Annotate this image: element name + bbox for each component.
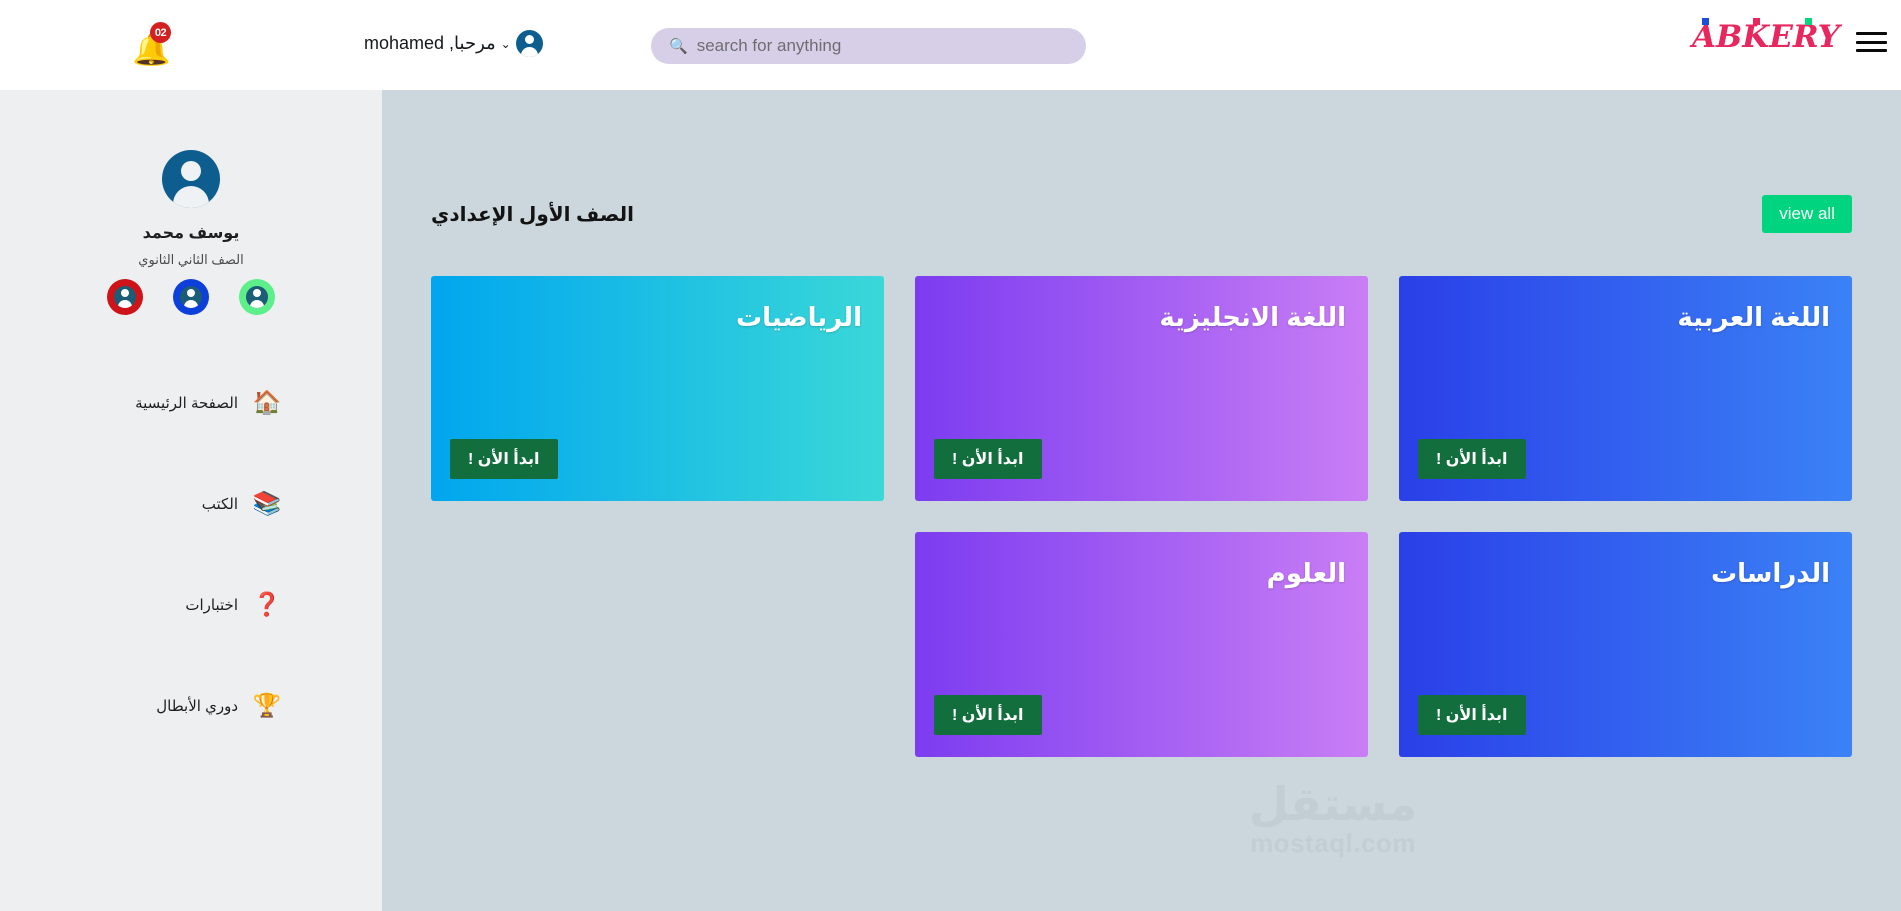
account-switcher — [0, 279, 382, 315]
profile-avatar — [162, 150, 220, 208]
main-content: view all الصف الأول الإعدادي اللغة العرب… — [382, 90, 1901, 911]
subject-card-english[interactable]: اللغة الانجليزية ابدأ الأن ! — [915, 276, 1368, 501]
watermark-latin: mostaql.com — [1218, 828, 1448, 859]
subject-card-studies[interactable]: الدراسات ابدأ الأن ! — [1399, 532, 1852, 757]
books-icon: 📚 — [252, 492, 282, 515]
account-avatar-icon — [180, 286, 202, 308]
brand-logo-text: ABKERY — [1692, 19, 1840, 55]
user-avatar-icon — [516, 30, 543, 57]
notification-badge: 02 — [150, 22, 171, 43]
sidebar-nav: 🏠 الصفحة الرئيسية 📚 الكتب ❓ اختبارات 🏆 د… — [0, 352, 382, 756]
page-body: يوسف محمد الصف الثاني الثانوي 🏠 الصفحة ا… — [0, 90, 1901, 911]
trophy-icon: 🏆 — [252, 694, 282, 717]
subject-card-title: العلوم — [1267, 558, 1346, 589]
page-title: الصف الأول الإعدادي — [431, 202, 634, 227]
user-menu[interactable]: مرحبا, mohamed ⌄ — [364, 30, 543, 57]
subject-card-title: الرياضيات — [736, 302, 862, 333]
logo-dot-blue-icon — [1702, 18, 1709, 25]
watermark-arabic: مستقل — [1218, 780, 1448, 828]
subject-card-title: اللغة الانجليزية — [1159, 302, 1346, 333]
brand-logo[interactable]: ABKERY — [1692, 22, 1840, 53]
hamburger-line-2 — [1856, 41, 1887, 44]
logo-dot-green-icon — [1805, 18, 1812, 25]
account-circle-blue[interactable] — [173, 279, 209, 315]
view-all-button[interactable]: view all — [1762, 195, 1852, 233]
start-now-button[interactable]: ابدأ الأن ! — [1418, 695, 1526, 735]
start-now-button[interactable]: ابدأ الأن ! — [1418, 439, 1526, 479]
sidebar-item-exams[interactable]: ❓ اختبارات — [0, 554, 382, 655]
search-bar[interactable]: 🔍 search for anything — [651, 28, 1086, 64]
sidebar-item-label: الصفحة الرئيسية — [135, 394, 238, 412]
search-icon: 🔍 — [669, 39, 688, 54]
sidebar-item-label: اختبارات — [185, 596, 238, 614]
hamburger-line-1 — [1856, 32, 1887, 35]
account-circle-red[interactable] — [107, 279, 143, 315]
sidebar-item-books[interactable]: 📚 الكتب — [0, 453, 382, 554]
chevron-down-icon: ⌄ — [501, 38, 511, 50]
start-now-button[interactable]: ابدأ الأن ! — [934, 695, 1042, 735]
subject-card-title: الدراسات — [1711, 558, 1830, 589]
section-header: view all الصف الأول الإعدادي — [431, 194, 1852, 234]
subject-card-arabic[interactable]: اللغة العربية ابدأ الأن ! — [1399, 276, 1852, 501]
hamburger-menu-icon[interactable] — [1856, 30, 1887, 54]
subject-card-math[interactable]: الرياضيات ابدأ الأن ! — [431, 276, 884, 501]
start-now-button[interactable]: ابدأ الأن ! — [450, 439, 558, 479]
sidebar-item-champions-league[interactable]: 🏆 دوري الأبطال — [0, 655, 382, 756]
sidebar-item-home[interactable]: 🏠 الصفحة الرئيسية — [0, 352, 382, 453]
account-circle-green[interactable] — [239, 279, 275, 315]
notifications-button[interactable]: 🔔 02 — [128, 22, 178, 70]
subject-card-science[interactable]: العلوم ابدأ الأن ! — [915, 532, 1368, 757]
sidebar-item-label: الكتب — [202, 495, 238, 513]
subject-card-title: اللغة العربية — [1677, 302, 1830, 333]
account-avatar-icon — [246, 286, 268, 308]
start-now-button[interactable]: ابدأ الأن ! — [934, 439, 1042, 479]
watermark: مستقل mostaql.com — [1218, 780, 1448, 859]
account-avatar-icon — [114, 286, 136, 308]
greeting-label: مرحبا, mohamed — [364, 33, 496, 54]
sidebar: يوسف محمد الصف الثاني الثانوي 🏠 الصفحة ا… — [0, 90, 382, 911]
question-mark-icon: ❓ — [252, 593, 282, 616]
home-icon: 🏠 — [252, 391, 282, 414]
hamburger-line-3 — [1856, 49, 1887, 52]
profile-name: يوسف محمد — [0, 223, 382, 243]
sidebar-item-label: دوري الأبطال — [156, 697, 238, 715]
top-bar: 🔔 02 مرحبا, mohamed ⌄ 🔍 search for anyth… — [0, 0, 1901, 90]
subject-cards-grid: اللغة العربية ابدأ الأن ! اللغة الانجليز… — [428, 276, 1852, 757]
logo-dot-red-icon — [1753, 18, 1760, 25]
search-input[interactable]: search for anything — [697, 36, 842, 56]
profile-grade: الصف الثاني الثانوي — [0, 252, 382, 268]
